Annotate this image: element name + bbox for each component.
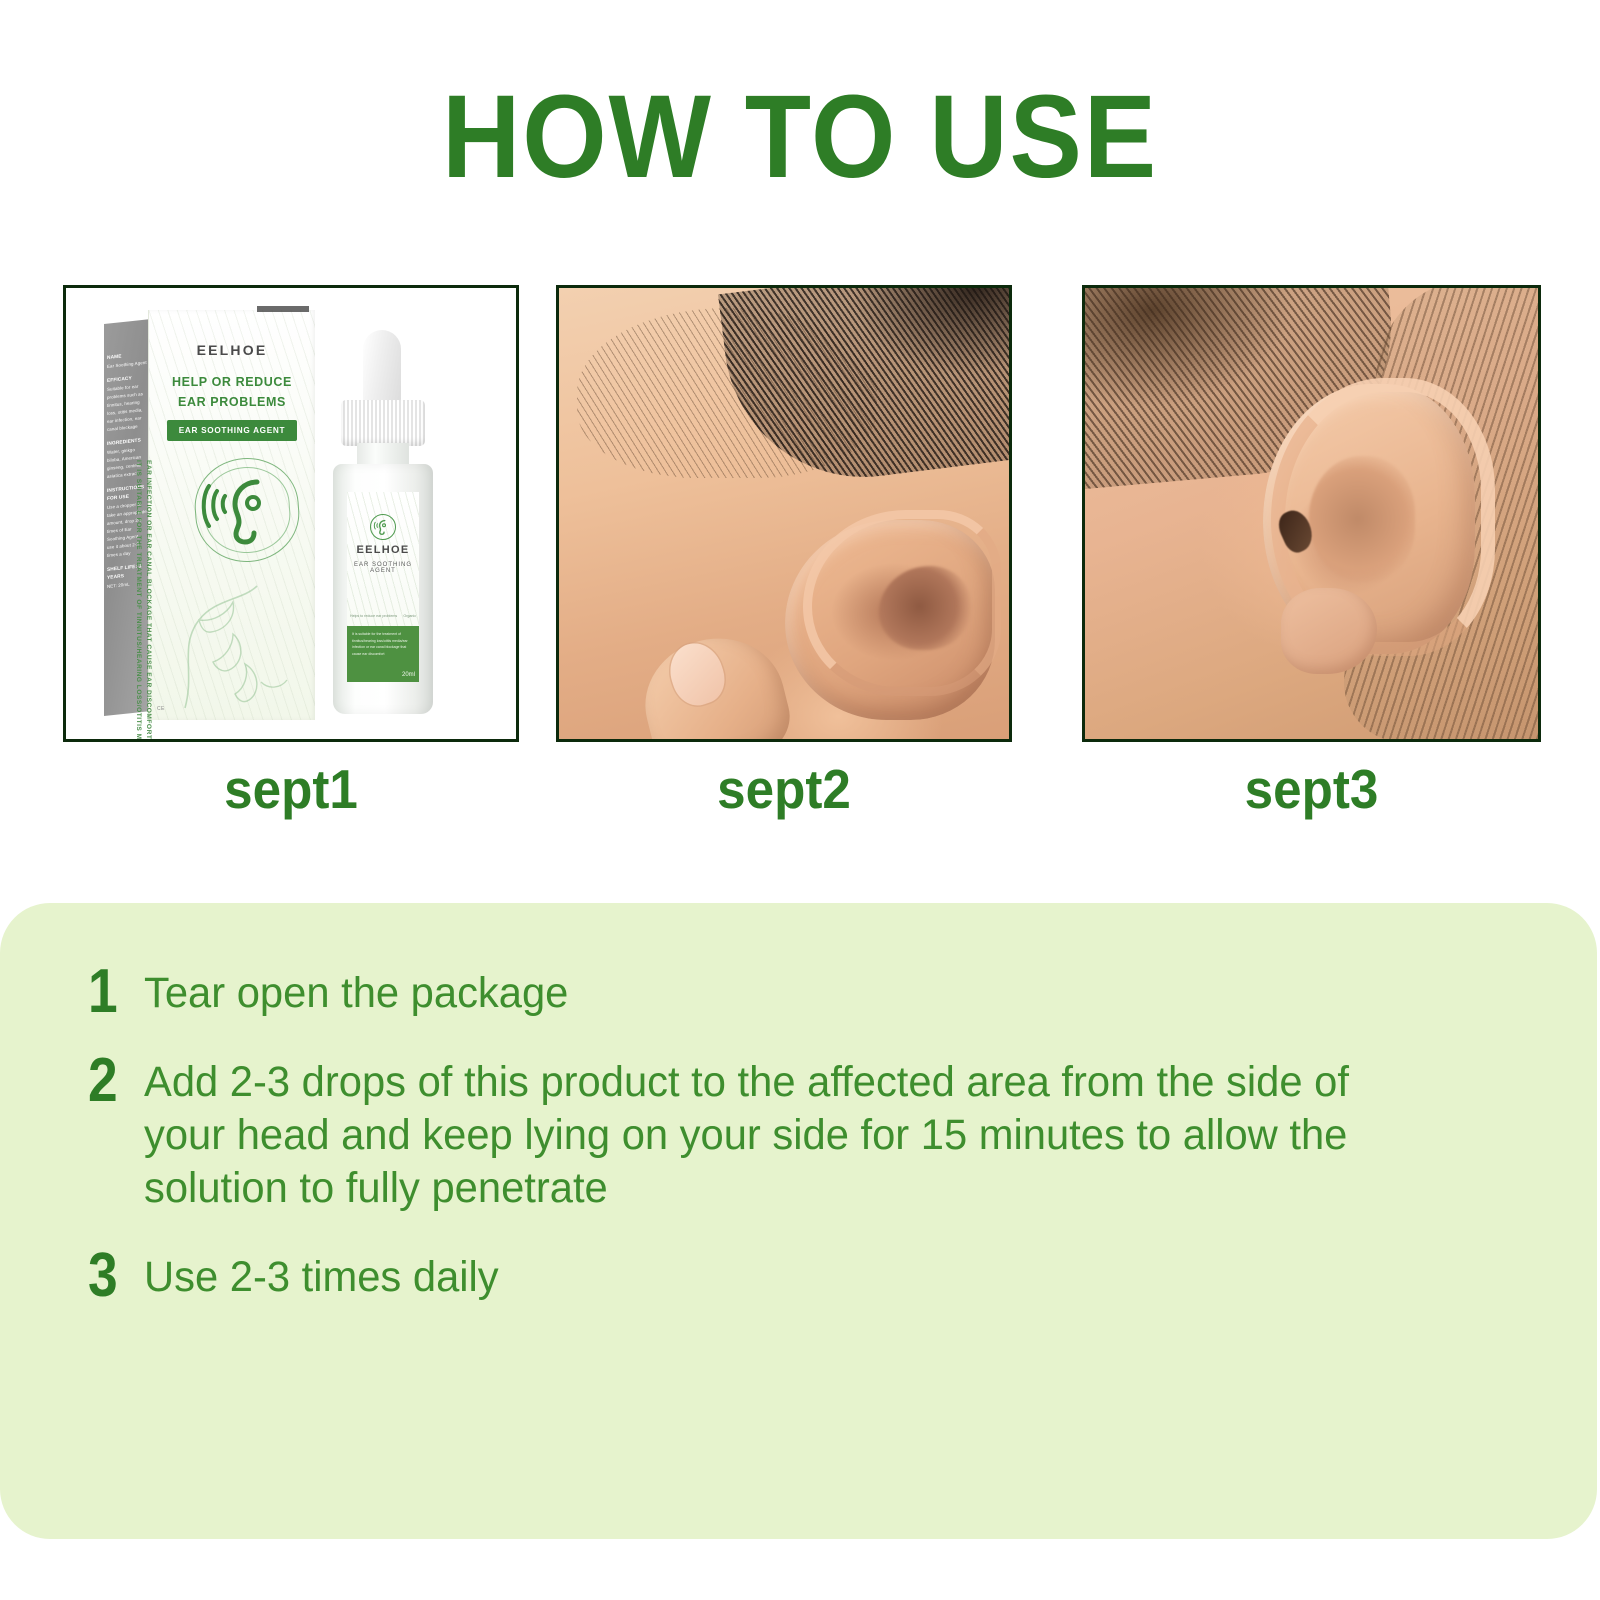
box-vertical-text-2: EAR INFECTION OR EAR CANAL BLOCKAGE THAT… bbox=[145, 460, 152, 710]
ear-application-photo bbox=[559, 288, 1009, 739]
box-certification-marks: CE bbox=[157, 706, 165, 712]
caption-row: sept1 sept2 sept3 bbox=[0, 757, 1600, 827]
box-vertical-text-1: IT IS SUITABLE FOR THE TREATMENT OF TINN… bbox=[135, 460, 142, 710]
photo-frame-sept2[interactable] bbox=[556, 285, 1012, 742]
box-top-flap bbox=[257, 306, 309, 312]
caption-sept1: sept1 bbox=[79, 757, 503, 821]
step-text: Use 2-3 times daily bbox=[144, 1249, 1467, 1304]
bottle-green-band: It is suitable for the treatment of tinn… bbox=[347, 626, 419, 682]
bottle-ear-icon bbox=[370, 514, 396, 540]
instruction-step: 2 Add 2-3 drops of this product to the a… bbox=[88, 1054, 1508, 1215]
dropper-bottle: EELHOE EAR SOOTHING AGENT Helps to reduc… bbox=[321, 330, 445, 718]
clean-ear-result-photo bbox=[1085, 288, 1538, 739]
bottle-band-text: It is suitable for the treatment of tinn… bbox=[352, 631, 414, 657]
caption-sept3: sept3 bbox=[1098, 757, 1525, 821]
ear-icon bbox=[195, 458, 295, 558]
box-ear-emblem bbox=[195, 458, 299, 562]
ear-concha bbox=[1309, 456, 1415, 582]
step-text: Tear open the package bbox=[144, 965, 1467, 1020]
step-number: 1 bbox=[88, 965, 136, 1019]
step-number: 2 bbox=[88, 1054, 136, 1108]
product-package-photo: NAME Ear Soothing Agent EFFICACY Suitabl… bbox=[66, 288, 516, 739]
photo-frame-sept1[interactable]: NAME Ear Soothing Agent EFFICACY Suitabl… bbox=[63, 285, 519, 742]
box-banner: EAR SOOTHING AGENT bbox=[167, 420, 297, 441]
bottle-tiny-line: Helps to reduce ear problems Organic bbox=[350, 614, 416, 618]
bottle-subtitle: EAR SOOTHING AGENT bbox=[347, 562, 419, 574]
leaf-ornament-icon bbox=[165, 562, 295, 712]
box-headline: HELP OR REDUCE EAR PROBLEMS bbox=[149, 372, 315, 412]
box-net-weight: NET: 20mL bbox=[107, 582, 130, 589]
instruction-step: 1 Tear open the package bbox=[88, 965, 1508, 1020]
bottle-tiny-right: Organic bbox=[403, 614, 416, 618]
instruction-steps: 1 Tear open the package 2 Add 2-3 drops … bbox=[88, 965, 1508, 1304]
photo-row: NAME Ear Soothing Agent EFFICACY Suitabl… bbox=[0, 285, 1600, 745]
instructions-panel: 1 Tear open the package 2 Add 2-3 drops … bbox=[0, 903, 1597, 1539]
photo-frame-sept3[interactable] bbox=[1082, 285, 1541, 742]
step-text: Add 2-3 drops of this product to the aff… bbox=[144, 1054, 1434, 1215]
bottle-tiny-left: Helps to reduce ear problems bbox=[350, 614, 397, 618]
box-efficacy-value: Suitable for ear problems such as tinnit… bbox=[107, 384, 143, 432]
bottle-body: EELHOE EAR SOOTHING AGENT Helps to reduc… bbox=[333, 464, 433, 714]
box-headline-line1: HELP OR REDUCE bbox=[149, 372, 315, 392]
caption-sept2: sept2 bbox=[572, 757, 996, 821]
bottle-volume: 20ml bbox=[402, 672, 415, 678]
box-headline-line2: EAR PROBLEMS bbox=[149, 392, 315, 412]
page-title: HOW TO USE bbox=[64, 78, 1536, 196]
dropper-bulb bbox=[363, 330, 401, 406]
instruction-step: 3 Use 2-3 times daily bbox=[88, 1249, 1508, 1304]
box-front-panel: EELHOE HELP OR REDUCE EAR PROBLEMS EAR S… bbox=[148, 310, 315, 720]
product-box: NAME Ear Soothing Agent EFFICACY Suitabl… bbox=[104, 310, 314, 720]
bottle-brand: EELHOE bbox=[347, 544, 419, 556]
bottle-cap bbox=[341, 400, 425, 446]
bottle-label: EELHOE EAR SOOTHING AGENT Helps to reduc… bbox=[347, 492, 419, 682]
box-brand: EELHOE bbox=[149, 342, 315, 358]
step-number: 3 bbox=[88, 1249, 136, 1303]
